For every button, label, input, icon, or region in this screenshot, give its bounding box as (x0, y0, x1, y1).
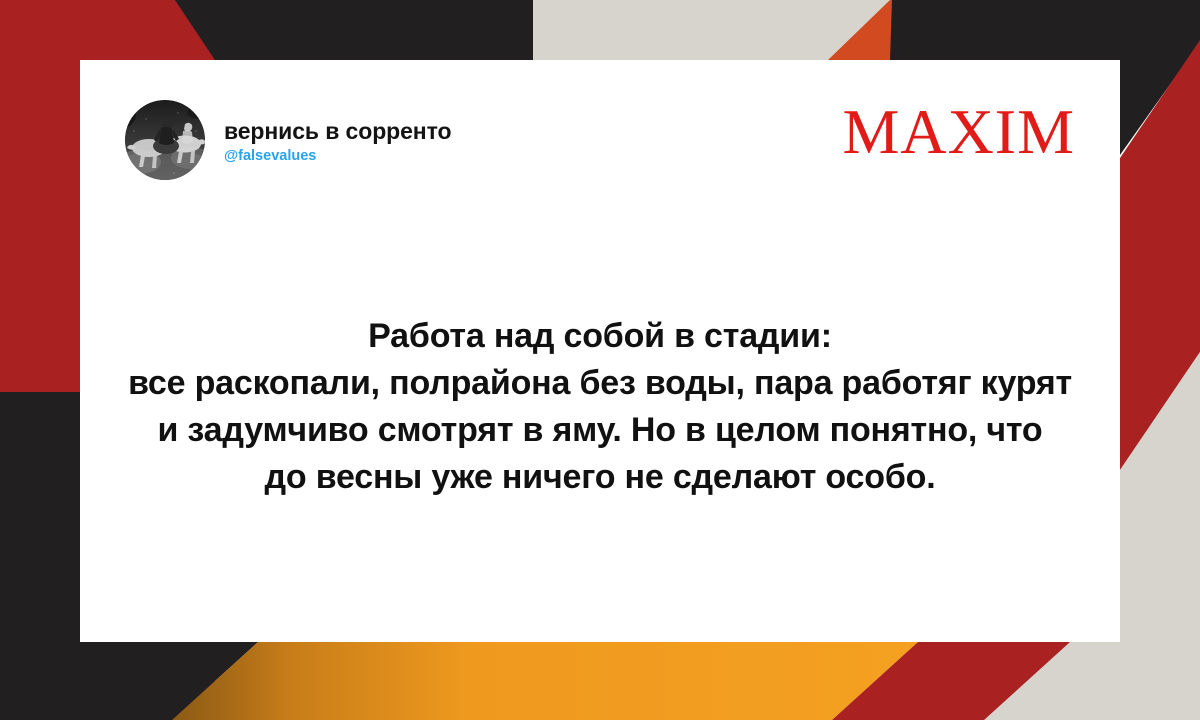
tweet-card-inner: вернись в сорренто @falsevalues MAXIM Ра… (80, 60, 1120, 642)
author-handle[interactable]: @falsevalues (224, 149, 451, 165)
author-text: вернись в сорренто @falsevalues (224, 115, 451, 164)
screenshot-root: вернись в сорренто @falsevalues MAXIM Ра… (0, 0, 1200, 720)
maxim-brand-logo: MAXIM (842, 100, 1075, 163)
author-display-name: вернись в сорренто (224, 119, 451, 144)
equestrian-photo-avatar-icon (125, 100, 205, 180)
tweet-card: вернись в сорренто @falsevalues MAXIM Ра… (80, 60, 1120, 642)
bg-top-black-band (175, 0, 533, 60)
bg-bottom-orange-band (172, 642, 918, 720)
tweet-quote-text: Работа над собой в стадии: все раскопали… (80, 313, 1120, 501)
quote-line-4: до весны уже ничего не сделают особо. (98, 454, 1102, 501)
author-block[interactable]: вернись в сорренто @falsevalues (125, 100, 451, 180)
quote-line-2: все раскопали, полрайона без воды, пара … (98, 360, 1102, 407)
quote-line-1: Работа над собой в стадии: (98, 313, 1102, 360)
quote-line-3: и задумчиво смотрят в яму. Но в целом по… (98, 407, 1102, 454)
bg-top-gray-band (533, 0, 890, 60)
tweet-header: вернись в сорренто @falsevalues MAXIM (125, 100, 1075, 200)
avatar[interactable] (125, 100, 205, 180)
